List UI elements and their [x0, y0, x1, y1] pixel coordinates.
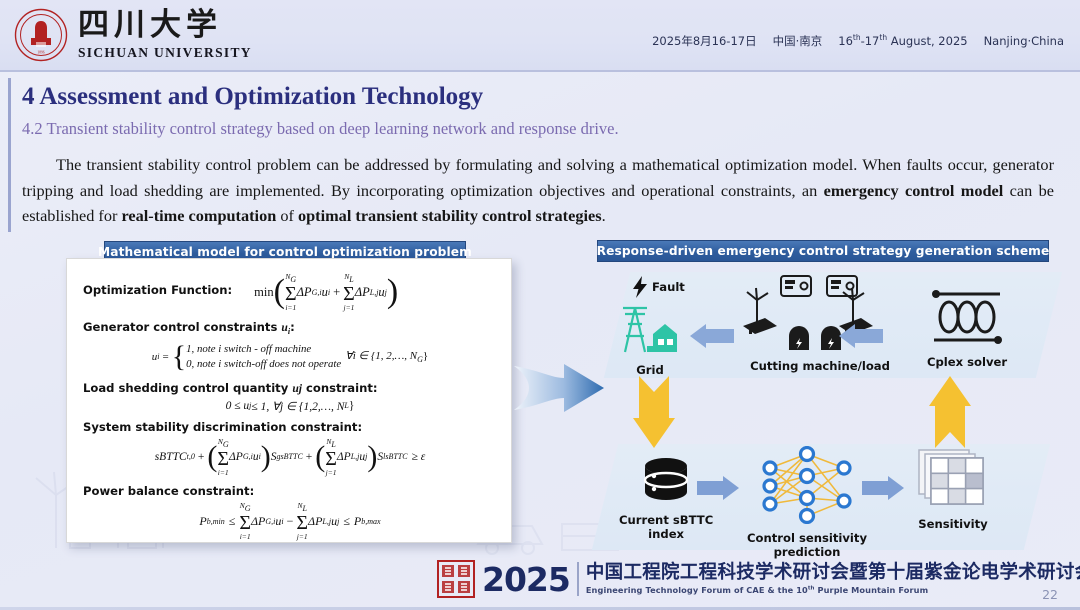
- body-bold-3: optimal transient stability control stra…: [298, 206, 602, 225]
- generator-case-2: 0, note i switch-off does not operate: [186, 357, 341, 372]
- matrix-grid-icon: [917, 448, 989, 510]
- cplex-solver-label: Cplex solver: [927, 355, 1007, 369]
- conference-seal-icon: [437, 560, 475, 598]
- fault-bolt-icon: [632, 276, 648, 298]
- right-panel-banner: Response-driven emergency control strate…: [597, 240, 1049, 262]
- conference-location-en: Nanjing·China: [984, 34, 1064, 48]
- sichuan-university-seal-icon: 1896: [14, 8, 68, 62]
- left-accent-rail: [8, 78, 11, 232]
- prediction-label-2: prediction: [747, 545, 867, 559]
- university-name-cn: 四川大学: [78, 10, 252, 41]
- slide-header: 1896 四川大学 SICHUAN UNIVERSITY 2025年8月16-1…: [0, 0, 1080, 72]
- sum-1: NG Σ i=1: [285, 273, 297, 312]
- grid-node: Grid: [619, 304, 681, 377]
- conference-location-cn: 中国·南京: [773, 33, 823, 49]
- power-balance-equation: Pb,min ≤ NGΣi=1 ΔPG,iui − NLΣj=1 ΔPL,juj…: [83, 502, 497, 541]
- optimization-function-equation: min ( NG Σ i=1 ΔPG,iui + NL Σ j=1 ΔPL,ju…: [254, 273, 398, 312]
- footer-name-block: 中国工程院工程科技学术研讨会暨第十届紫金论电学术研讨会 Engineering …: [586, 563, 1080, 594]
- body-bold-2: real-time computation: [121, 206, 276, 225]
- optimization-function-heading: Optimization Function:: [83, 283, 232, 297]
- arrow-down-yellow-icon: [633, 376, 675, 448]
- footer-divider: [577, 562, 579, 596]
- arrow-left-from-solver-icon: [839, 324, 883, 348]
- generator-constraint-heading: Generator control constraints ui:: [83, 320, 497, 336]
- svg-text:1896: 1896: [37, 51, 44, 55]
- arrow-right-to-sensitivity-icon: [862, 476, 904, 500]
- math-model-card: Optimization Function: min ( NG Σ i=1 ΔP…: [66, 258, 512, 543]
- footer-year: 2025: [482, 563, 570, 596]
- conference-date-cn: 2025年8月16-17日: [652, 33, 757, 49]
- min-operator: min: [254, 285, 273, 300]
- strategy-diagram: Fault Grid: [597, 268, 1052, 553]
- arrow-right-to-prediction-icon: [697, 476, 739, 500]
- page-subtitle: 4.2 Transient stability control strategy…: [22, 119, 619, 139]
- grid-label: Grid: [619, 363, 681, 377]
- sbttc-index-label-1: Current sBTTC: [619, 513, 713, 527]
- generator-constraint-equation: ui = { 1, note i switch - off machine 0,…: [83, 340, 497, 374]
- page-title: 4 Assessment and Optimization Technology: [22, 83, 483, 111]
- load-shedding-heading: Load shedding control quantity uj constr…: [83, 381, 497, 395]
- body-text-4: .: [602, 206, 606, 225]
- generator-forall: ∀i ∈ {1, 2,…, NG}: [345, 349, 428, 364]
- page-number: 22: [1042, 587, 1058, 602]
- cplex-solver-icon: [928, 286, 1006, 348]
- arrow-left-to-grid-icon: [690, 324, 734, 348]
- conference-meta: 2025年8月16-17日 中国·南京 16th-17th August, 20…: [652, 33, 1064, 49]
- footer-name-cn: 中国工程院工程科技学术研讨会暨第十届紫金论电学术研讨会: [586, 563, 1080, 582]
- body-text-3: of: [276, 206, 298, 225]
- sensitivity-node: Sensitivity: [917, 448, 989, 531]
- conference-date-en: 16th-17th August, 2025: [838, 33, 967, 48]
- power-grid-icon: [619, 304, 681, 356]
- cutting-label: Cutting machine/load: [735, 359, 905, 373]
- body-bold-1: emergency control model: [824, 181, 1004, 200]
- footer-name-en: Engineering Technology Forum of CAE & th…: [586, 586, 1080, 595]
- prediction-label-1: Control sensitivity: [747, 531, 867, 545]
- sbttc-index-label-2: index: [619, 527, 713, 541]
- neural-network-node: Control sensitivity prediction: [747, 446, 867, 559]
- fault-label: Fault: [652, 280, 685, 294]
- university-name-en: SICHUAN UNIVERSITY: [78, 46, 252, 60]
- optimization-function-row: Optimization Function: min ( NG Σ i=1 ΔP…: [83, 273, 497, 312]
- fault-node: Fault: [632, 276, 685, 298]
- cplex-solver-node: Cplex solver: [927, 286, 1007, 369]
- university-name-block: 四川大学 SICHUAN UNIVERSITY: [78, 10, 252, 60]
- stability-constraint-equation: sBTTCt,0 + ( NGΣi=1 ΔPG,iui ) SgsBTTC + …: [83, 438, 497, 477]
- sensitivity-label: Sensitivity: [917, 517, 989, 531]
- conference-footer-logo: 2025 中国工程院工程科技学术研讨会暨第十届紫金论电学术研讨会 Enginee…: [437, 560, 1080, 598]
- body-paragraph: The transient stability control problem …: [22, 152, 1054, 229]
- stability-constraint-heading: System stability discrimination constrai…: [83, 420, 497, 434]
- transition-arrow-icon: [512, 352, 608, 424]
- neural-network-icon: [752, 446, 862, 524]
- power-balance-heading: Power balance constraint:: [83, 484, 497, 498]
- database-icon: [638, 456, 694, 506]
- slide-canvas: 1896 四川大学 SICHUAN UNIVERSITY 2025年8月16-1…: [0, 0, 1080, 610]
- arrow-up-yellow-icon: [929, 376, 971, 448]
- university-logo-block: 1896 四川大学 SICHUAN UNIVERSITY: [14, 8, 252, 62]
- generator-case-1: 1, note i switch - off machine: [186, 342, 341, 357]
- load-shedding-equation: 0 ≤ uj ≤ 1, ∀j ∈ {1,2,…, NL}: [83, 399, 497, 413]
- sum-2: NL Σ j=1: [343, 273, 355, 312]
